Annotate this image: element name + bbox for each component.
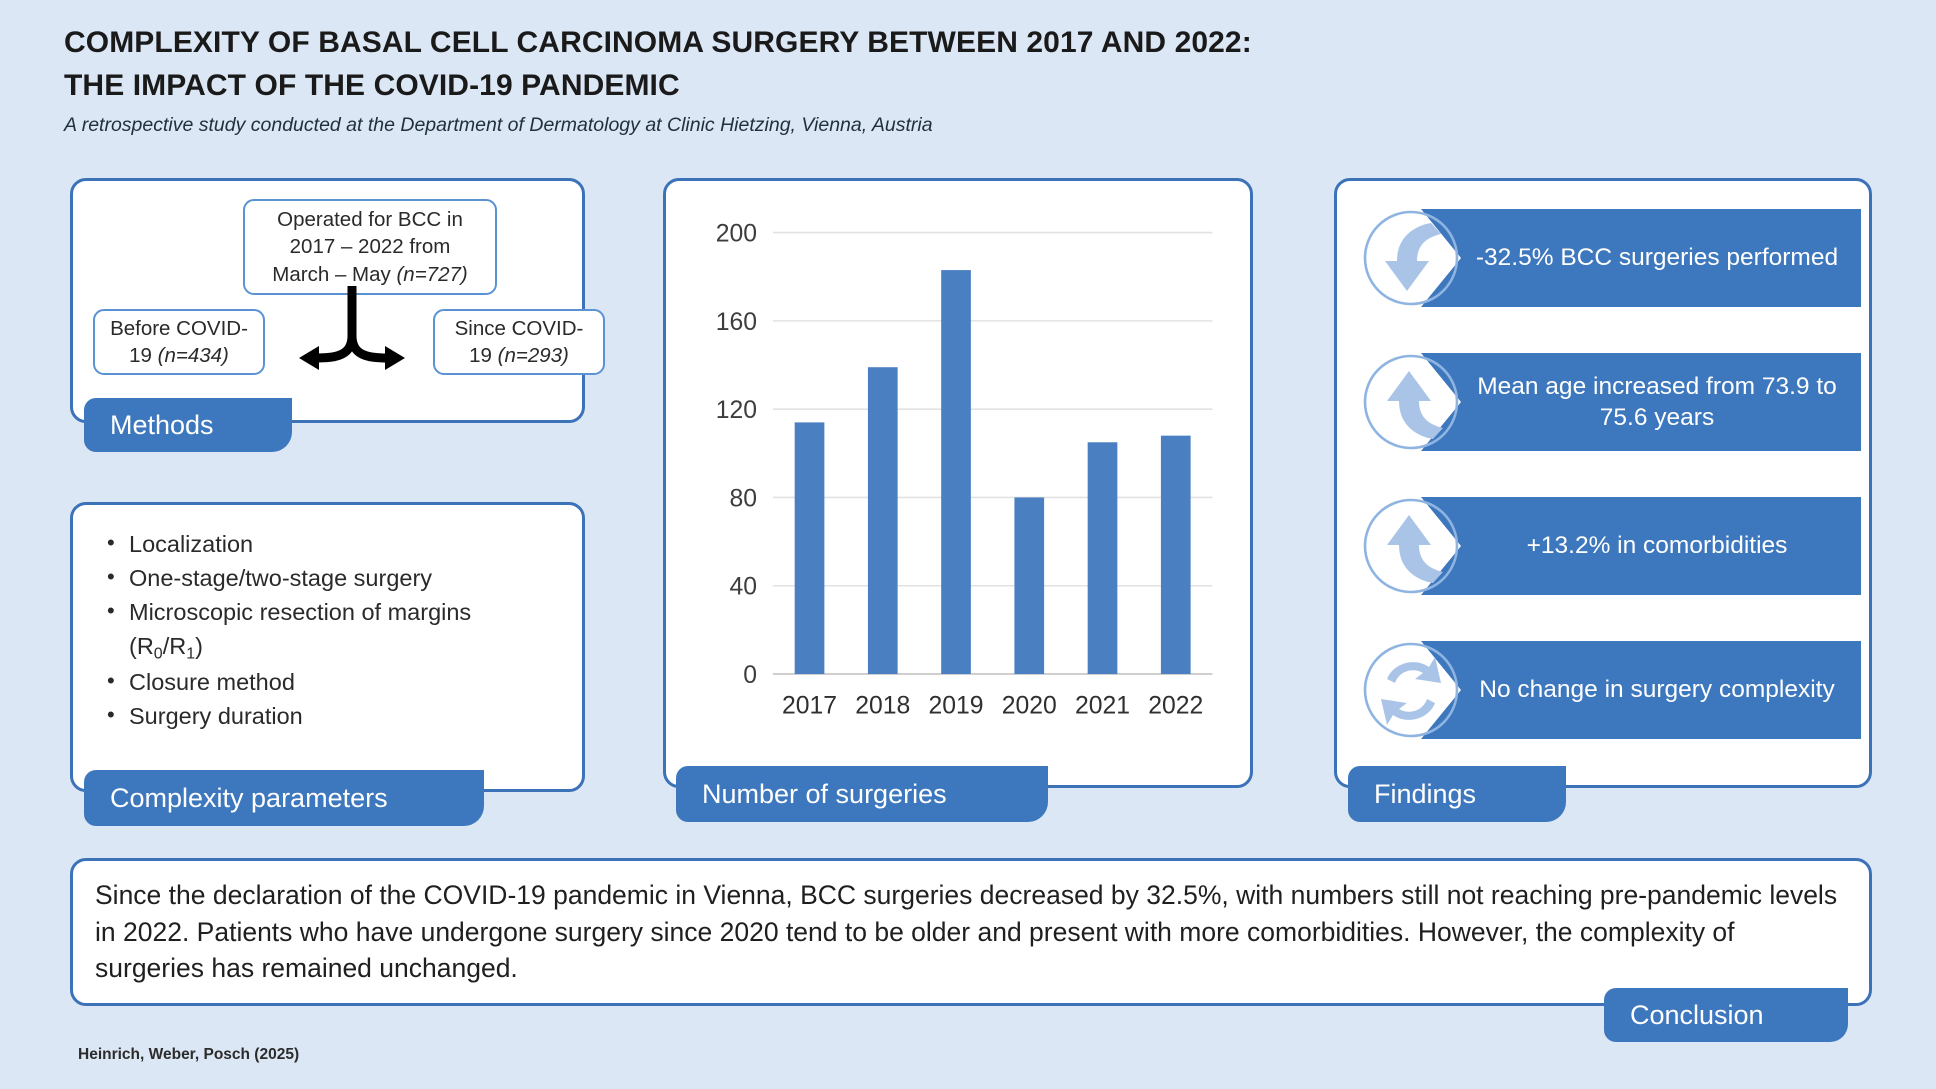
svg-text:40: 40	[730, 574, 758, 601]
header: COMPLEXITY OF BASAL CELL CARCINOMA SURGE…	[64, 22, 1864, 137]
graphical-abstract-poster: COMPLEXITY OF BASAL CELL CARCINOMA SURGE…	[0, 0, 1936, 1089]
finding-text: +13.2% in comorbidities	[1421, 497, 1861, 595]
citation: Heinrich, Weber, Posch (2025)	[78, 1046, 299, 1064]
refresh-cycle-circle-icon	[1357, 635, 1465, 745]
methods-panel: Operated for BCC in 2017 – 2022 from Mar…	[70, 178, 585, 423]
flowchart-box-cohort: Operated for BCC in 2017 – 2022 from Mar…	[243, 199, 497, 295]
list-item: Surgery duration	[99, 701, 568, 733]
complexity-parameters-list: Localization One-stage/two-stage surgery…	[99, 529, 568, 735]
finding-text: Mean age increased from 73.9 to 75.6 yea…	[1421, 353, 1861, 451]
arrow-down-circle-icon	[1357, 203, 1465, 313]
before-covid-n: (n=434)	[158, 344, 229, 367]
svg-text:2021: 2021	[1075, 693, 1130, 720]
methods-tab-label: Methods	[84, 398, 292, 452]
svg-text:80: 80	[730, 485, 758, 512]
finding-row: -32.5% BCC surgeries performed	[1351, 203, 1861, 313]
list-item: Microscopic resection of margins	[99, 597, 568, 629]
svg-text:120: 120	[716, 397, 757, 424]
svg-text:0: 0	[743, 662, 757, 689]
conclusion-tab-label: Conclusion	[1604, 988, 1848, 1042]
since-covid-line-1: Since COVID-	[455, 317, 584, 340]
svg-text:2018: 2018	[855, 693, 910, 720]
chart-tab-label: Number of surgeries	[676, 766, 1048, 822]
flowchart-box-before-covid: Before COVID- 19 (n=434)	[93, 309, 265, 375]
findings-panel: -32.5% BCC surgeries performed Mean age …	[1334, 178, 1872, 788]
finding-text: -32.5% BCC surgeries performed	[1421, 209, 1861, 307]
finding-row: Mean age increased from 73.9 to 75.6 yea…	[1351, 347, 1861, 457]
cohort-line-2: 2017 – 2022 from	[290, 235, 451, 258]
since-covid-n: (n=293)	[498, 344, 569, 367]
number-of-surgeries-chart-panel: 04080120160200201720182019202020212022	[663, 178, 1253, 788]
svg-text:2019: 2019	[929, 693, 984, 720]
flowchart-box-since-covid: Since COVID- 19 (n=293)	[433, 309, 605, 375]
split-arrow-icon	[269, 284, 435, 380]
conclusion-panel: Since the declaration of the COVID-19 pa…	[70, 858, 1872, 1006]
since-covid-line-2: 19	[469, 344, 498, 367]
findings-tab-label: Findings	[1348, 766, 1566, 822]
svg-text:2022: 2022	[1148, 693, 1203, 720]
cohort-line-1: Operated for BCC in	[277, 208, 463, 231]
bar-chart: 04080120160200201720182019202020212022	[666, 181, 1250, 785]
svg-text:2020: 2020	[1002, 693, 1057, 720]
finding-text: No change in surgery complexity	[1421, 641, 1861, 739]
arrow-up-circle-icon	[1357, 347, 1465, 457]
cohort-line-3: March – May	[272, 263, 396, 286]
page-title-line-1: COMPLEXITY OF BASAL CELL CARCINOMA SURGE…	[64, 22, 1864, 65]
arrow-up-circle-icon	[1357, 491, 1465, 601]
conclusion-text: Since the declaration of the COVID-19 pa…	[95, 877, 1839, 987]
before-covid-line-1: Before COVID-	[110, 317, 248, 340]
list-item: Closure method	[99, 667, 568, 699]
complexity-parameters-panel: Localization One-stage/two-stage surgery…	[70, 502, 585, 792]
before-covid-line-2: 19	[129, 344, 158, 367]
svg-text:2017: 2017	[782, 693, 837, 720]
list-item: One-stage/two-stage surgery	[99, 563, 568, 595]
page-title-line-2: THE IMPACT OF THE COVID-19 PANDEMIC	[64, 65, 1864, 108]
finding-row: No change in surgery complexity	[1351, 635, 1861, 745]
list-item-margins-detail: (R0/R1)	[99, 631, 568, 665]
cohort-n: (n=727)	[396, 263, 467, 286]
svg-text:160: 160	[716, 309, 757, 336]
page-subtitle: A retrospective study conducted at the D…	[64, 114, 1864, 137]
list-item: Localization	[99, 529, 568, 561]
complexity-parameters-tab-label: Complexity parameters	[84, 770, 484, 826]
svg-text:200: 200	[716, 220, 757, 247]
finding-row: +13.2% in comorbidities	[1351, 491, 1861, 601]
